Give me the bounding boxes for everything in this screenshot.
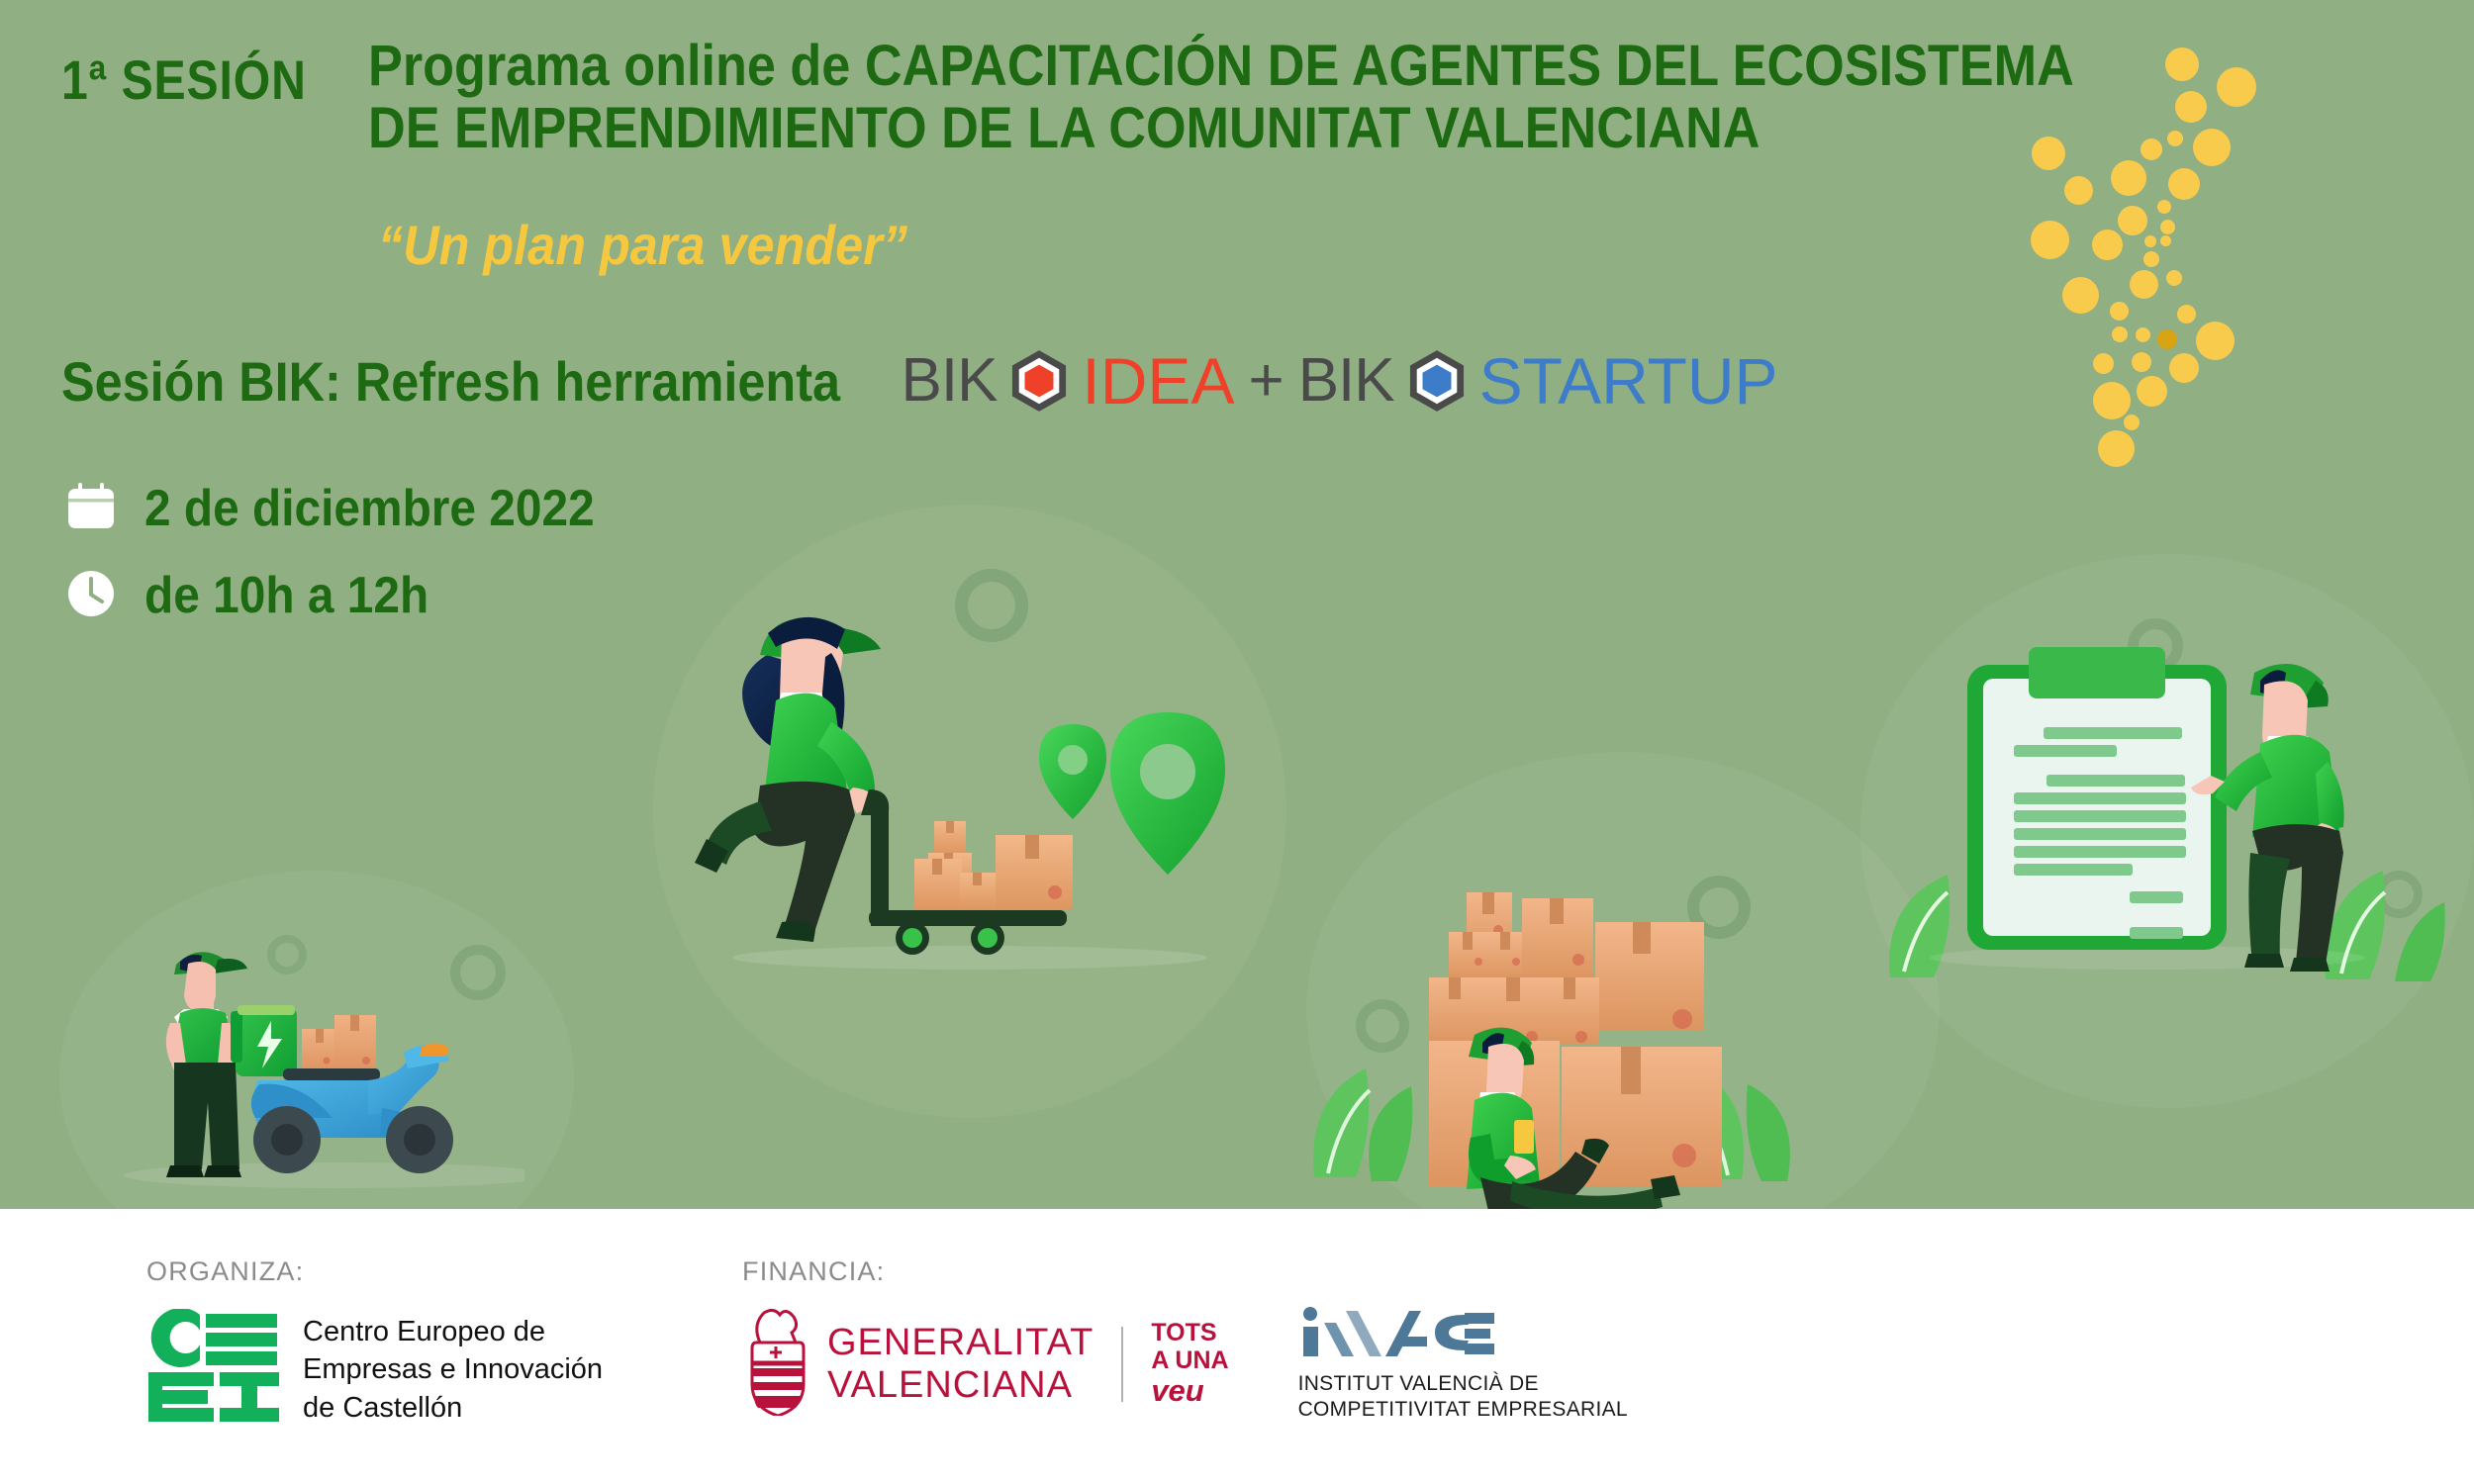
- ivace-sub-line-2: COMPETITIVITAT EMPRESARIAL: [1298, 1397, 1628, 1423]
- bik-startup-hexagon-icon: [1408, 349, 1466, 413]
- organiza-label: ORGANIZA:: [146, 1256, 603, 1287]
- poster-footer: ORGANIZA:: [0, 1209, 2474, 1484]
- session-tag: 1ª SESIÓN: [61, 47, 307, 112]
- generalitat-valenciana-logo: GENERALITAT VALENCIANA TOTS A UNA veu: [742, 1307, 1229, 1421]
- event-time-row: de 10h a 12h: [65, 552, 633, 639]
- poster-stage: 1ª SESIÓN Programa online de CAPACITACIÓ…: [0, 0, 2474, 1209]
- ceei-line-2: Empresas e Innovación: [303, 1350, 603, 1388]
- ivace-subtitle: INSTITUT VALENCIÀ DE COMPETITIVITAT EMPR…: [1298, 1371, 1628, 1422]
- ceei-name: Centro Europeo de Empresas e Innovación …: [303, 1313, 603, 1427]
- tots-a-una-veu-slogan: TOTS A UNA veu: [1151, 1319, 1228, 1409]
- slogan-line-3: veu: [1151, 1374, 1228, 1409]
- yellow-dot-cluster-decoration: [1999, 20, 2296, 485]
- bik-lead-text: Sesión BIK: Refresh herramienta: [61, 349, 840, 414]
- bik-idea-hexagon-icon: [1010, 349, 1068, 413]
- ivace-mark-icon: [1298, 1347, 1496, 1364]
- page-subtitle: “Un plan para vender”: [378, 213, 907, 277]
- bik-plus-sign: +: [1248, 350, 1284, 412]
- generalitat-line-2: VALENCIANA: [827, 1364, 1094, 1407]
- clipboard-checklist-illustration: [1860, 613, 2464, 1009]
- person-sitting-with-boxes-illustration: [1277, 851, 1831, 1209]
- courier-with-handcart-illustration: [673, 574, 1286, 989]
- bik-startup-name: STARTUP: [1479, 348, 1778, 414]
- event-meta: 2 de diciembre 2022 de 10h a 12h: [65, 465, 633, 639]
- event-date: 2 de diciembre 2022: [144, 479, 595, 538]
- bik-startup-prefix: BIK: [1298, 350, 1394, 412]
- title-line-1: Programa online de CAPACITACIÓN DE AGENT…: [368, 36, 1829, 98]
- event-poster: 1ª SESIÓN Programa online de CAPACITACIÓ…: [0, 0, 2474, 1484]
- event-date-row: 2 de diciembre 2022: [65, 465, 633, 552]
- bik-idea-name: IDEA: [1082, 348, 1234, 414]
- event-time: de 10h a 12h: [144, 566, 428, 625]
- slogan-line-2: A UNA: [1151, 1346, 1228, 1374]
- financia-credit: FINANCIA:: [742, 1256, 1628, 1422]
- generalitat-wordmark: GENERALITAT VALENCIANA: [827, 1322, 1094, 1406]
- slogan-line-1: TOTS: [1151, 1319, 1228, 1346]
- organiza-credit: ORGANIZA:: [146, 1256, 603, 1431]
- ceei-line-3: de Castellón: [303, 1389, 603, 1427]
- ceei-mark-icon: [146, 1309, 281, 1431]
- bik-idea-prefix: BIK: [901, 350, 997, 412]
- page-title: Programa online de CAPACITACIÓN DE AGENT…: [368, 36, 1991, 159]
- bik-tools-row: Sesión BIK: Refresh herramienta BIK IDEA…: [61, 341, 1778, 420]
- ivace-sub-line-1: INSTITUT VALENCIÀ DE: [1298, 1371, 1628, 1397]
- generalitat-crest-icon: [742, 1307, 811, 1421]
- ceei-line-1: Centro Europeo de: [303, 1313, 603, 1350]
- calendar-icon: [65, 481, 117, 537]
- ceei-logo: Centro Europeo de Empresas e Innovación …: [146, 1309, 603, 1431]
- delivery-scooter-illustration: [89, 910, 524, 1207]
- generalitat-line-1: GENERALITAT: [827, 1322, 1094, 1364]
- logo-divider: [1121, 1327, 1123, 1402]
- clock-icon: [65, 568, 117, 624]
- financia-label: FINANCIA:: [742, 1256, 1628, 1287]
- title-line-2: DE EMPRENDIMIENTO DE LA COMUNITAT VALENC…: [368, 98, 1829, 160]
- ivace-logo: INSTITUT VALENCIÀ DE COMPETITIVITAT EMPR…: [1298, 1305, 1628, 1422]
